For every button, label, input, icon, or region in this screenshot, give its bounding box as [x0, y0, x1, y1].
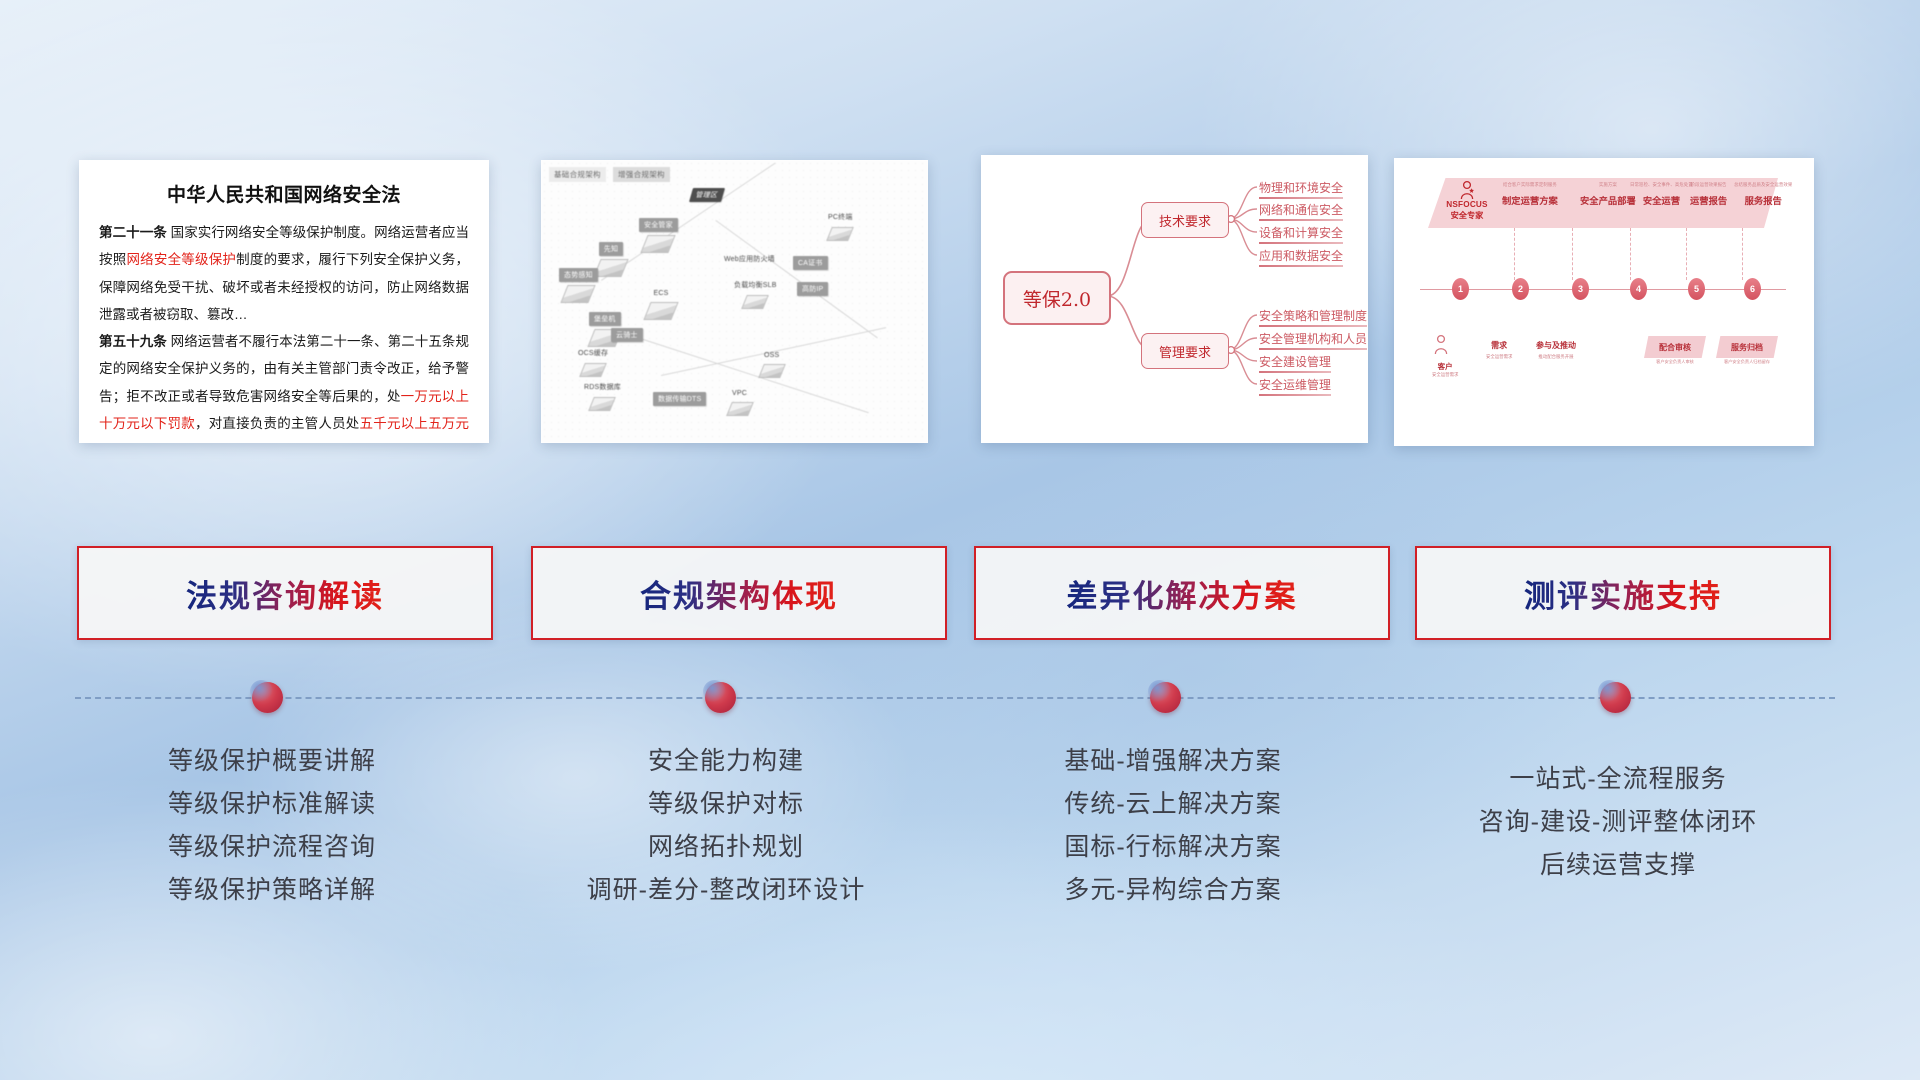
timeline-step-dot[interactable]: 1 [1452, 278, 1469, 300]
nsfocus-tag-caption: 客户安全负责人审核 [1644, 359, 1706, 365]
customer-icon [1432, 334, 1450, 356]
bottom-label: 需求 [1486, 340, 1512, 351]
list-item: 咨询-建设-测评整体闭环 [1408, 801, 1828, 844]
heading-label: 合规架构体现 [640, 571, 838, 616]
list-item: 等级保护流程咨询 [62, 826, 482, 869]
cube-icon [641, 235, 676, 253]
list-item: 国标-行标解决方案 [963, 826, 1383, 869]
arch-node-taishiganzhi: 态势感知 [559, 268, 598, 303]
timeline-dot-1[interactable] [252, 682, 283, 713]
step-connector [1686, 228, 1687, 280]
timeline-dashed-line [75, 697, 1835, 699]
arch-node-ca: CA证书 [793, 256, 828, 270]
step-label: 运营报告 [1690, 193, 1727, 207]
customer-caption: 安全运营需求 [1432, 372, 1458, 378]
heading-box-assessment-support[interactable]: 测评实施支持 [1415, 546, 1831, 640]
step-caption: 结合客户实际需求定制服务 [1502, 182, 1558, 188]
mindmap-leaf: 网络和通信安全 [1259, 201, 1343, 220]
list-column-3: 基础-增强解决方案 传统-云上解决方案 国标-行标解决方案 多元-异构综合方案 [963, 740, 1383, 912]
arch-node-oss: OSS [759, 350, 784, 378]
step-caption: 阶段运营效果报告 [1690, 182, 1727, 188]
mindmap-leaf: 设备和计算安全 [1259, 224, 1343, 243]
mindmap-leaf: 安全策略和管理制度 [1259, 307, 1367, 326]
step-connector [1572, 228, 1573, 280]
step-connector [1630, 228, 1631, 280]
card-law-document[interactable]: 中华人民共和国网络安全法 第二十一条 国家实行网络安全等级保护制度。网络运营者应… [79, 160, 489, 443]
list-item: 一站式-全流程服务 [1408, 758, 1828, 801]
cube-icon [643, 302, 678, 320]
arch-node-ocs: OCS缓存 [573, 346, 613, 377]
timeline-step-dot[interactable]: 5 [1688, 278, 1705, 300]
mindmap-leaf: 应用和数据安全 [1259, 247, 1343, 266]
law-article-21: 第二十一条 国家实行网络安全等级保护制度。网络运营者应当按照网络安全等级保护制度… [99, 219, 469, 328]
nsfocus-canvas: NSFOCUS 安全专家 结合客户实际需求定制服务 制定运营方案 实施方案 安全… [1394, 158, 1814, 446]
timeline-step-dot[interactable]: 6 [1744, 278, 1761, 300]
list-column-2: 安全能力构建 等级保护对标 网络拓扑规划 调研-差分-整改闭环设计 [516, 740, 936, 912]
article-21-label: 第二十一条 [99, 225, 167, 240]
step-label: 安全产品部署 [1580, 193, 1636, 207]
cube-icon [726, 402, 754, 416]
arch-node-dts: 数据传输DTS [653, 392, 706, 406]
list-item: 等级保护标准解读 [62, 783, 482, 826]
cube-icon [741, 295, 769, 309]
article-59-text-b: ，对直接负责的主管人员处 [195, 416, 360, 431]
tab-basic-architecture[interactable]: 基础合规架构 [549, 167, 606, 182]
mindmap-leaf: 安全管理机构和人员 [1259, 330, 1367, 349]
step-label: 安全运营 [1630, 193, 1693, 207]
list-item: 等级保护概要讲解 [62, 740, 482, 783]
step-caption: 总结服务品质及安全运营效果 [1734, 182, 1792, 188]
nsfocus-axis [1420, 289, 1786, 290]
nsfocus-step: 阶段运营效果报告 运营报告 [1690, 182, 1727, 207]
nsfocus-step: 结合客户实际需求定制服务 制定运营方案 [1502, 182, 1558, 207]
bottom-caption: 推动配合服务开展 [1536, 354, 1576, 360]
arch-node-guanli: 管理区 [691, 188, 723, 202]
card-nsfocus-timeline[interactable]: NSFOCUS 安全专家 结合客户实际需求定制服务 制定运营方案 实施方案 安全… [1394, 158, 1814, 446]
article-21-highlight: 网络安全等级保护 [126, 252, 236, 267]
mindmap-branch-management[interactable]: 管理要求 [1141, 333, 1229, 369]
arch-node-rds: RDS数据库 [579, 380, 626, 411]
cube-icon [758, 364, 786, 378]
list-column-1: 等级保护概要讲解 等级保护标准解读 等级保护流程咨询 等级保护策略详解 [62, 740, 482, 912]
timeline-dot-4[interactable] [1600, 682, 1631, 713]
arch-node-anquanguanjia: 安全管家 [639, 218, 678, 253]
step-caption: 日常巡检、安全事件、高危处置 [1630, 182, 1693, 188]
card-architecture-diagram[interactable]: 基础合规架构 增强合规架构 管理区 安全管家 先知 态势感知 堡垒机 Web应 [541, 160, 928, 443]
arch-node-gaofangip: 高防IP [797, 282, 828, 296]
heading-label: 测评实施支持 [1524, 571, 1722, 616]
law-document-body: 中华人民共和国网络安全法 第二十一条 国家实行网络安全等级保护制度。网络运营者应… [79, 160, 489, 443]
nsfocus-tag-caption: 客户安全负责人归档留存 [1712, 359, 1782, 365]
tab-enhanced-architecture[interactable]: 增强合规架构 [613, 167, 670, 182]
heading-label: 法规咨询解读 [186, 571, 384, 616]
cube-icon [593, 259, 628, 277]
timeline-step-dot[interactable]: 3 [1572, 278, 1589, 300]
nsfocus-step: 实施方案 安全产品部署 [1580, 182, 1636, 207]
timeline-step-dot[interactable]: 2 [1512, 278, 1529, 300]
card-mindmap[interactable]: 等保2.0 技术要求 管理要求 物理和环境安全 网络和通信安全 设备和计算安全 … [981, 155, 1368, 443]
mindmap-leaf: 物理和环境安全 [1259, 179, 1343, 198]
arch-node-slb: 负载均衡SLB [729, 278, 782, 309]
list-item: 安全能力构建 [516, 740, 936, 783]
timeline-dot-2[interactable] [705, 682, 736, 713]
arch-node-pc-terminal: PC终端 [823, 210, 858, 241]
heading-box-regulation-consulting[interactable]: 法规咨询解读 [77, 546, 493, 640]
step-label: 服务报告 [1734, 193, 1792, 207]
nsfocus-logo: NSFOCUS 安全专家 [1438, 180, 1496, 221]
customer-label: 客户 [1432, 361, 1458, 372]
heading-box-compliance-architecture[interactable]: 合规架构体现 [531, 546, 947, 640]
list-item: 等级保护策略详解 [62, 869, 482, 912]
article-59-label: 第五十九条 [99, 334, 167, 349]
step-label: 制定运营方案 [1502, 193, 1558, 207]
list-item: 后续运营支撑 [1408, 844, 1828, 887]
step-caption: 实施方案 [1580, 182, 1636, 188]
list-item: 多元-异构综合方案 [963, 869, 1383, 912]
timeline-dot-3[interactable] [1150, 682, 1181, 713]
expert-person-icon [1458, 180, 1476, 200]
mindmap-canvas: 等保2.0 技术要求 管理要求 物理和环境安全 网络和通信安全 设备和计算安全 … [981, 155, 1368, 443]
cube-icon [589, 397, 617, 411]
nsfocus-logo-sub: 安全专家 [1438, 209, 1496, 221]
list-item: 传统-云上解决方案 [963, 783, 1383, 826]
nsfocus-step: 总结服务品质及安全运营效果 服务报告 [1734, 182, 1792, 207]
nsfocus-bottom-item: 需求 安全运营需求 [1486, 340, 1512, 360]
nsfocus-tag: 服务归档 [1716, 336, 1778, 358]
cube-icon [579, 363, 607, 377]
slide-stage: 中华人民共和国网络安全法 第二十一条 国家实行网络安全等级保护制度。网络运营者应… [0, 0, 1920, 1080]
mindmap-leaf: 安全运维管理 [1259, 376, 1331, 395]
nsfocus-logo-name: NSFOCUS [1438, 200, 1496, 209]
step-connector [1742, 228, 1743, 280]
step-connector [1514, 228, 1515, 280]
arch-node-xianzhi: 先知 [597, 242, 625, 277]
cube-icon [561, 285, 596, 303]
architecture-canvas: 基础合规架构 增强合规架构 管理区 安全管家 先知 态势感知 堡垒机 Web应 [541, 160, 928, 443]
nsfocus-tag: 配合审核 [1644, 336, 1706, 358]
list-item: 等级保护对标 [516, 783, 936, 826]
list-item: 网络拓扑规划 [516, 826, 936, 869]
heading-label: 差异化解决方案 [1067, 571, 1298, 616]
arch-node-yunqishi: 云骑士 [611, 328, 643, 342]
arch-node-ecs: ECS [647, 288, 675, 320]
arch-node-vpc: VPC [727, 388, 752, 416]
cube-icon [826, 227, 854, 241]
arch-node-waf: Web应用防火墙 [719, 252, 780, 266]
customer-person-icon: 客户 安全运营需求 [1432, 334, 1458, 378]
list-item: 调研-差分-整改闭环设计 [516, 869, 936, 912]
nsfocus-bottom-item: 参与及推动 推动配合服务开展 [1536, 340, 1576, 360]
heading-box-differentiated-solution[interactable]: 差异化解决方案 [974, 546, 1390, 640]
timeline-step-dot[interactable]: 4 [1630, 278, 1647, 300]
mindmap-branch-technical[interactable]: 技术要求 [1141, 202, 1229, 238]
list-item: 基础-增强解决方案 [963, 740, 1383, 783]
law-article-59: 第五十九条 网络运营者不履行本法第二十一条、第二十五条规定的网络安全保护义务的，… [99, 328, 469, 443]
mindmap-leaf: 安全建设管理 [1259, 353, 1331, 372]
bottom-label: 参与及推动 [1536, 340, 1576, 351]
nsfocus-step: 日常巡检、安全事件、高危处置 安全运营 [1630, 182, 1693, 207]
bottom-caption: 安全运营需求 [1486, 354, 1512, 360]
law-title: 中华人民共和国网络安全法 [99, 180, 469, 207]
list-column-4: 一站式-全流程服务 咨询-建设-测评整体闭环 后续运营支撑 [1408, 758, 1828, 887]
mindmap-root-node[interactable]: 等保2.0 [1003, 271, 1111, 325]
